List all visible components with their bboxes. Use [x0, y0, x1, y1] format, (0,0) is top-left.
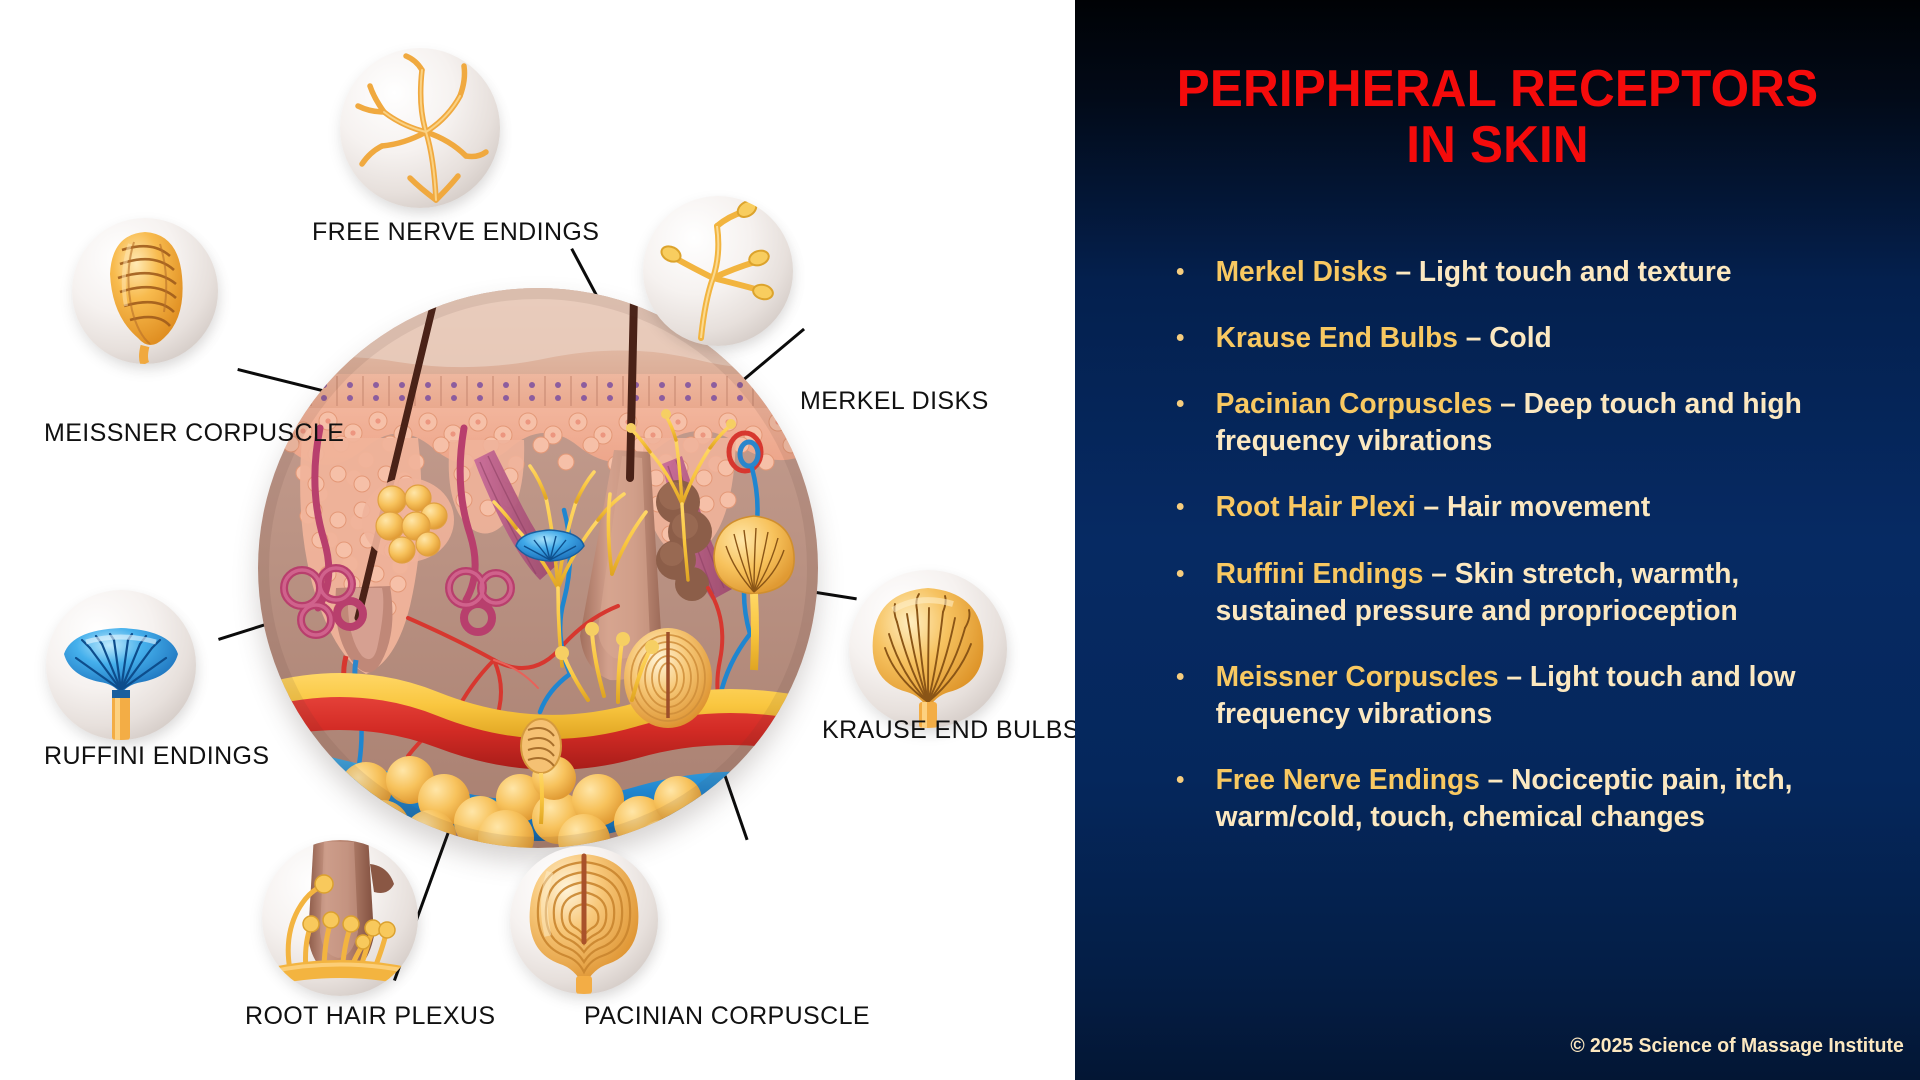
receptor-term: Pacinian Corpuscles — [1216, 388, 1493, 420]
page-title: PERIPHERAL RECEPTORS IN SKIN — [1096, 62, 1899, 173]
free-nerve-endings-icon — [340, 48, 500, 208]
list-item: Ruffini Endings – Skin stretch, warmth, … — [1171, 556, 1850, 630]
skin-cross-section-svg — [258, 288, 818, 848]
skin-cross-section-illustration — [258, 288, 818, 848]
receptor-dash: – — [1458, 322, 1489, 354]
receptor-term: Free Nerve Endings — [1216, 764, 1480, 796]
copyright-notice: © 2025 Science of Massage Institute — [1571, 1035, 1904, 1058]
receptor-dash: – — [1423, 558, 1454, 590]
callout-label-root-hair-plexus: ROOT HAIR PLEXUS — [245, 1002, 495, 1031]
callout-label-ruffini-endings: RUFFINI ENDINGS — [44, 742, 269, 771]
bullet-dot-icon — [1177, 776, 1184, 783]
receptor-term: Root Hair Plexi — [1216, 491, 1416, 523]
free-nerve-endings-svg — [340, 48, 500, 208]
receptor-term: Merkel Disks — [1216, 256, 1388, 288]
meissner-corpuscle-icon — [72, 218, 218, 364]
pacinian-corpuscle-icon — [510, 846, 658, 994]
receptor-term: Krause End Bulbs — [1216, 322, 1458, 354]
callout-label-krause-end-bulbs: KRAUSE END BULBS — [822, 716, 1075, 745]
page-title-line-1: PERIPHERAL RECEPTORS — [1096, 62, 1899, 118]
list-item: Root Hair Plexi – Hair movement — [1171, 489, 1850, 526]
text-panel: PERIPHERAL RECEPTORS IN SKIN Merkel Disk… — [1075, 0, 1920, 1080]
receptor-list: Merkel Disks – Light touch and texture K… — [1171, 254, 1871, 865]
receptor-term: Meissner Corpuscles — [1216, 661, 1499, 693]
root-hair-plexus-svg — [262, 840, 418, 996]
slide-root: FREE NERVE ENDINGS — [0, 0, 1920, 1080]
page-title-line-2: IN SKIN — [1096, 118, 1899, 174]
bullet-dot-icon — [1177, 570, 1184, 577]
list-item: Merkel Disks – Light touch and texture — [1171, 254, 1850, 291]
receptor-dash: – — [1480, 764, 1511, 796]
callout-label-merkel-disks: MERKEL DISKS — [800, 387, 989, 416]
receptor-desc: Hair movement — [1447, 491, 1650, 523]
root-hair-plexus-icon — [262, 840, 418, 996]
bullet-dot-icon — [1177, 268, 1184, 275]
meissner-corpuscle-svg — [72, 218, 218, 364]
list-item: Pacinian Corpuscles – Deep touch and hig… — [1171, 386, 1850, 460]
receptor-desc: Light touch and texture — [1419, 256, 1732, 288]
ruffini-endings-svg — [46, 590, 196, 740]
krause-end-bulbs-svg — [849, 570, 1007, 728]
callout-label-pacinian-corpuscle: PACINIAN CORPUSCLE — [584, 1002, 870, 1031]
diagram-panel: FREE NERVE ENDINGS — [0, 0, 1075, 1080]
list-item: Krause End Bulbs – Cold — [1171, 320, 1850, 357]
callout-label-free-nerve-endings: FREE NERVE ENDINGS — [312, 218, 599, 247]
krause-end-bulbs-icon — [849, 570, 1007, 728]
list-item: Meissner Corpuscles – Light touch and lo… — [1171, 659, 1850, 733]
receptor-term: Ruffini Endings — [1216, 558, 1424, 590]
bullet-dot-icon — [1177, 503, 1184, 510]
receptor-desc: Cold — [1489, 322, 1552, 354]
ruffini-endings-icon — [46, 590, 196, 740]
bullet-dot-icon — [1177, 673, 1184, 680]
bullet-dot-icon — [1177, 400, 1184, 407]
list-item: Free Nerve Endings – Nociceptic pain, it… — [1171, 762, 1850, 836]
receptor-dash: – — [1492, 388, 1523, 420]
bullet-dot-icon — [1177, 334, 1184, 341]
pacinian-corpuscle-svg — [510, 846, 658, 994]
receptor-dash: – — [1388, 256, 1419, 288]
callout-label-meissner-corpuscle: MEISSNER CORPUSCLE — [44, 419, 344, 448]
merkel-disks-icon — [643, 196, 793, 346]
receptor-dash: – — [1416, 491, 1447, 523]
merkel-disks-svg — [643, 196, 793, 346]
receptor-dash: – — [1499, 661, 1530, 693]
follicle-bulge — [370, 864, 394, 893]
